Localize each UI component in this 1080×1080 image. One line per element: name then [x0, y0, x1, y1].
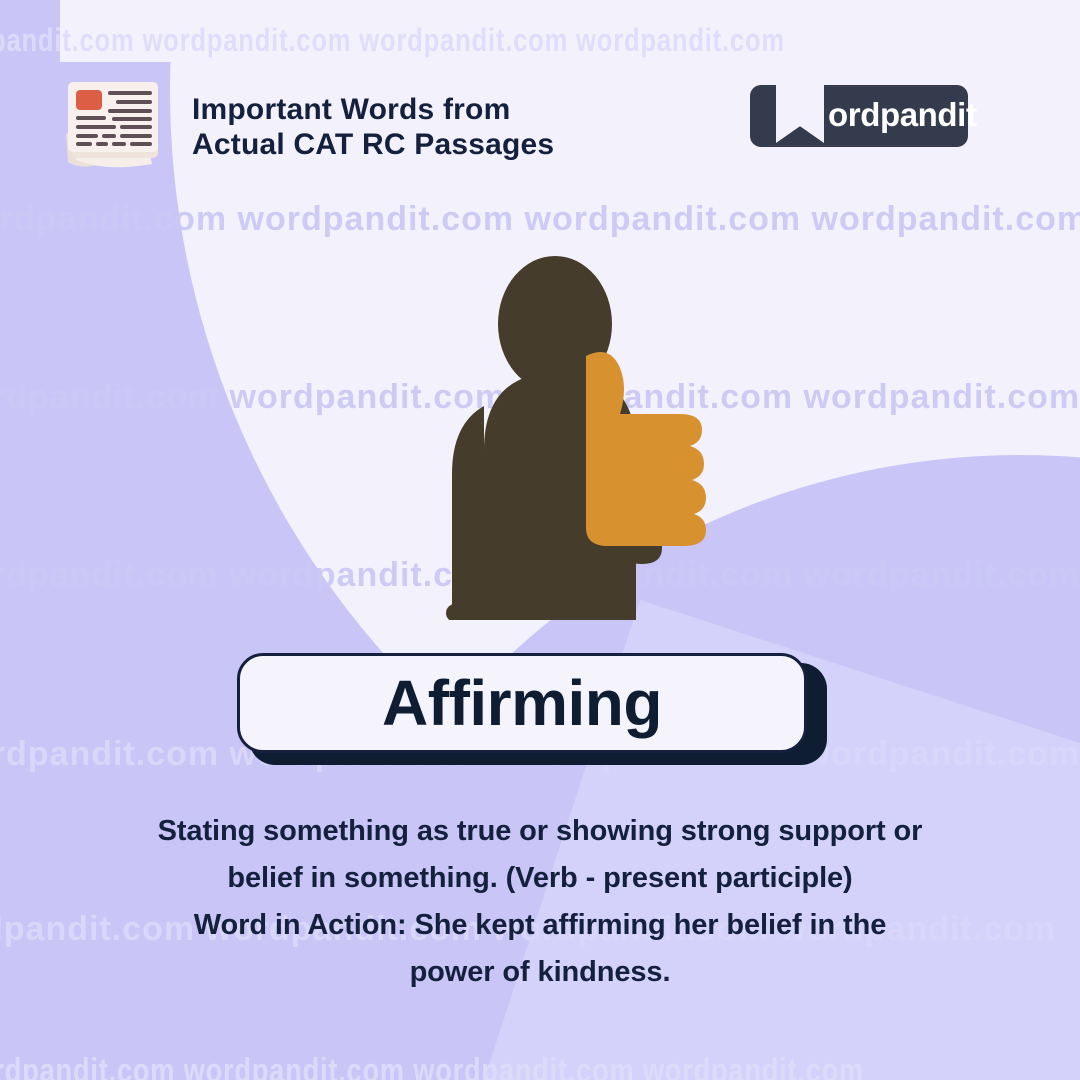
background-top-strip-left-edge — [0, 0, 60, 62]
page-title-line-1: Important Words from — [192, 92, 554, 127]
definition-block: Stating something as true or showing str… — [40, 808, 1040, 996]
header: Important Words from Actual CAT RC Passa… — [0, 72, 1080, 172]
person-thumbs-up-icon — [380, 228, 740, 620]
background-top-strip — [0, 0, 1080, 62]
example-line-1: Word in Action: She kept affirming her b… — [40, 902, 1040, 949]
poster-canvas: pandit.com wordpandit.com wordpandit.com… — [0, 0, 1080, 1080]
newspaper-icon — [56, 72, 174, 172]
definition-line-1: Stating something as true or showing str… — [40, 808, 1040, 855]
word-badge[interactable]: Affirming — [237, 653, 827, 765]
definition-line-2: belief in something. (Verb - present par… — [40, 855, 1040, 902]
logo-text: ordpandit — [828, 96, 977, 134]
page-title: Important Words from Actual CAT RC Passa… — [192, 92, 554, 163]
wordpandit-logo[interactable]: ordpandit — [750, 85, 968, 147]
word-text: Affirming — [382, 671, 662, 735]
bookmark-icon — [776, 83, 824, 143]
page-title-line-2: Actual CAT RC Passages — [192, 127, 554, 162]
word-badge-card[interactable]: Affirming — [237, 653, 807, 753]
example-line-2: power of kindness. — [40, 949, 1040, 996]
